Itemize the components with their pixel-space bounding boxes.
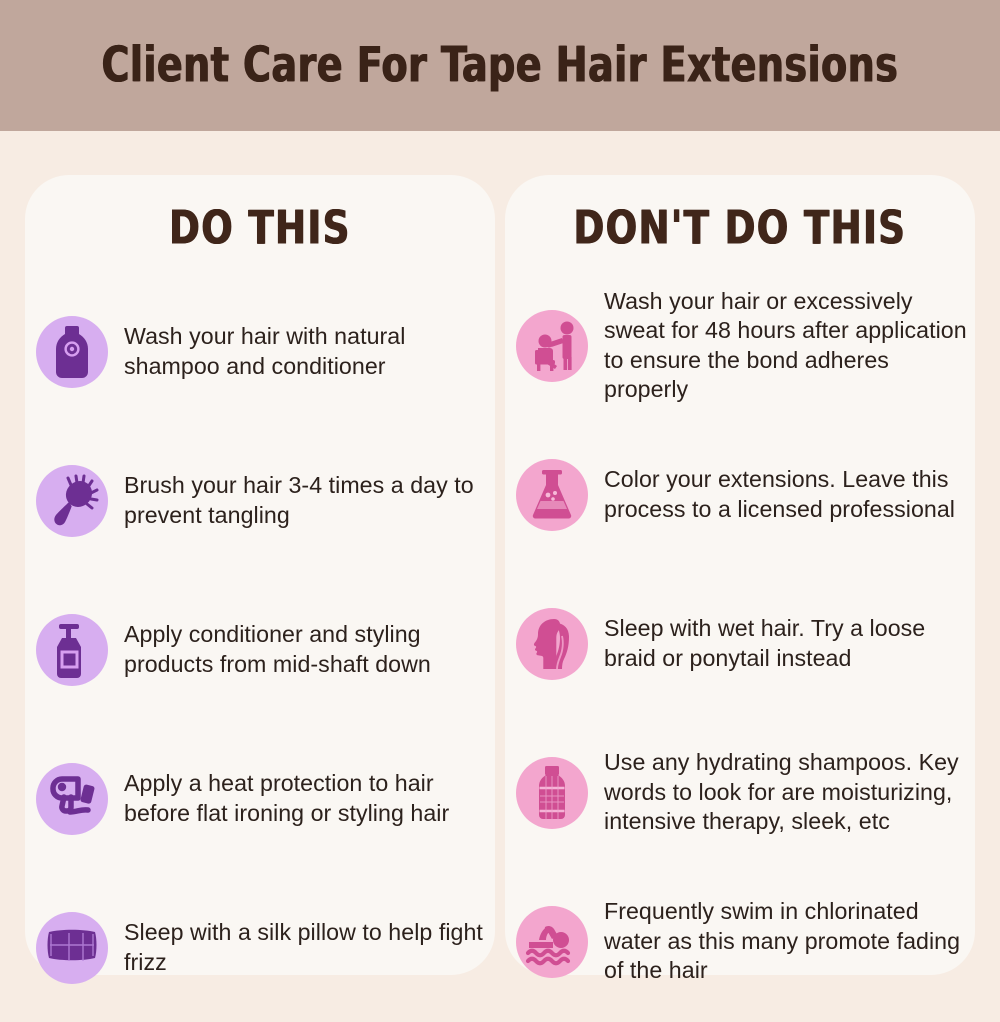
list-item: Sleep with wet hair. Try a loose braid o… — [505, 569, 975, 718]
list-item-text: Wash your hair or excessively sweat for … — [604, 287, 971, 404]
do-this-list: Wash your hair with natural shampoo and … — [25, 277, 495, 1022]
hair-dryer-icon — [36, 763, 108, 835]
list-item-text: Use any hydrating shampoos. Key words to… — [604, 748, 971, 836]
list-item: Frequently swim in chlorinated water as … — [505, 867, 975, 1016]
dont-do-this-heading: DON'T DO THIS — [505, 175, 975, 255]
header-band: Client Care For Tape Hair Extensions — [0, 0, 1000, 131]
water-bottle-icon — [516, 757, 588, 829]
salon-hair-wash-icon — [516, 310, 588, 382]
list-item: Apply a heat protection to hair before f… — [25, 724, 495, 873]
pump-bottle-icon — [36, 614, 108, 686]
list-item: Wash your hair with natural shampoo and … — [25, 277, 495, 426]
woman-ponytail-icon — [516, 608, 588, 680]
list-item-text: Brush your hair 3-4 times a day to preve… — [124, 471, 491, 530]
do-this-card: DO THIS Wash your hair with natural sham… — [25, 175, 495, 975]
list-item: Use any hydrating shampoos. Key words to… — [505, 718, 975, 867]
comparison-columns: DO THIS Wash your hair with natural sham… — [0, 131, 1000, 1000]
chemical-flask-icon — [516, 459, 588, 531]
do-this-heading: DO THIS — [25, 175, 495, 255]
dont-do-this-card: DON'T DO THIS — [505, 175, 975, 975]
list-item-text: Apply a heat protection to hair before f… — [124, 769, 491, 828]
list-item-text: Wash your hair with natural shampoo and … — [124, 322, 491, 381]
dont-do-this-list: Wash your hair or excessively sweat for … — [505, 271, 975, 1016]
pillow-icon — [36, 912, 108, 984]
list-item-text: Color your extensions. Leave this proces… — [604, 465, 971, 524]
page-title: Client Care For Tape Hair Extensions — [102, 37, 899, 94]
list-item-text: Apply conditioner and styling products f… — [124, 620, 491, 679]
hairbrush-icon — [36, 465, 108, 537]
shampoo-bottle-icon — [36, 316, 108, 388]
list-item: Color your extensions. Leave this proces… — [505, 420, 975, 569]
swimmer-icon — [516, 906, 588, 978]
list-item-text: Sleep with a silk pillow to help fight f… — [124, 918, 491, 977]
list-item-text: Frequently swim in chlorinated water as … — [604, 897, 971, 985]
list-item-text: Sleep with wet hair. Try a loose braid o… — [604, 614, 971, 673]
list-item: Brush your hair 3-4 times a day to preve… — [25, 426, 495, 575]
list-item: Wash your hair or excessively sweat for … — [505, 271, 975, 420]
list-item: Apply conditioner and styling products f… — [25, 575, 495, 724]
